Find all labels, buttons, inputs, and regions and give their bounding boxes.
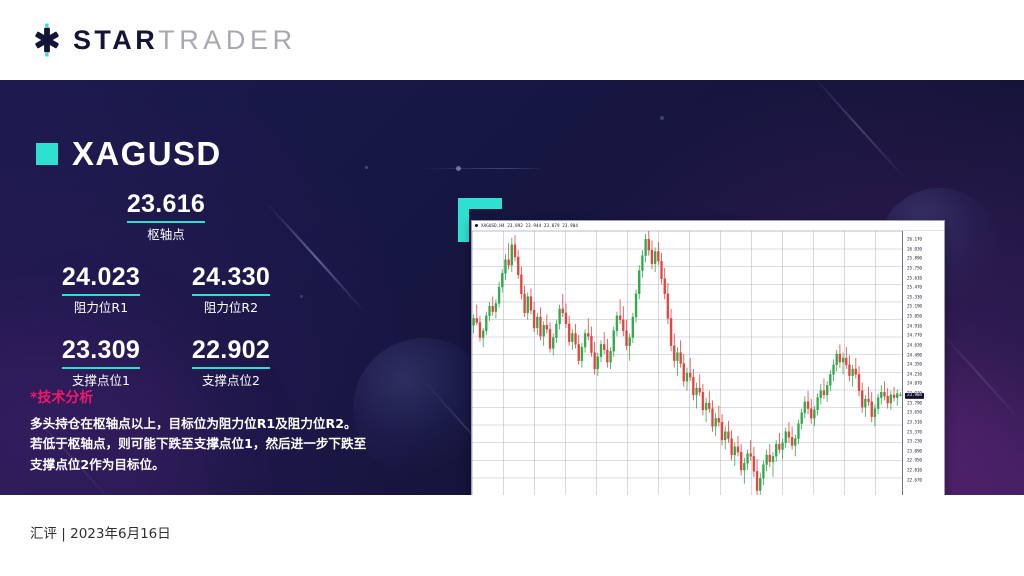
price-tick: 23.370	[907, 430, 922, 435]
pivot-row-pivot: 23.616 枢轴点	[36, 190, 296, 243]
price-tick: 24.210	[907, 372, 922, 377]
symbol-heading: XAGUSD	[36, 137, 222, 170]
price-tick: 23.790	[907, 401, 922, 406]
decor-dot-3	[660, 116, 664, 120]
brand-logo: STARTRADER	[30, 23, 297, 57]
pivot-value: 24.023	[62, 263, 140, 296]
price-tick: 24.770	[907, 334, 922, 339]
pivot-cell-r1: 24.023 阻力位R1	[36, 263, 166, 316]
pivot-cell-pivot: 23.616 枢轴点	[101, 190, 231, 243]
chart-plot-area[interactable]	[472, 231, 902, 495]
six-point-star-icon	[30, 23, 64, 57]
price-tick: 25.190	[907, 305, 922, 310]
candlestick-series	[472, 231, 902, 495]
price-tick: 22.670	[907, 478, 922, 483]
chart-symbol-dot-icon	[475, 224, 478, 227]
price-tick: 25.050	[907, 315, 922, 320]
slide-canvas: STARTRADER XAGUSD 23.616	[0, 0, 1024, 576]
pivot-label: 阻力位R2	[166, 300, 296, 316]
analysis-title-text: 技术分析	[37, 390, 93, 406]
chart-titlebar: XAGUSD,H4 23.892 23.944 23.879 23.904	[472, 221, 944, 231]
price-tick: 23.650	[907, 411, 922, 416]
price-tick: 24.070	[907, 382, 922, 387]
analysis-line: 若低于枢轴点，则可能下跌至支撑点位1，然后进一步下跌至	[30, 434, 410, 454]
analysis-title: *技术分析	[30, 390, 410, 407]
pivot-value: 22.902	[192, 336, 270, 369]
price-tick: 24.490	[907, 353, 922, 358]
page-title: XAGUSD	[72, 137, 222, 170]
price-tick: 23.090	[907, 449, 922, 454]
technical-analysis: *技术分析 多头持仓在枢轴点以上，目标位为阻力位R1及阻力位R2。 若低于枢轴点…	[30, 390, 410, 475]
pivot-value: 24.330	[192, 263, 270, 296]
pivot-label: 支撑点位1	[36, 373, 166, 389]
pivot-cell-s1: 23.309 支撑点位1	[36, 336, 166, 389]
pivot-row-support: 23.309 支撑点位1 22.902 支撑点位2	[36, 336, 296, 389]
footer-caption: 汇评 | 2023年6月16日	[30, 526, 171, 542]
price-tick: 24.630	[907, 343, 922, 348]
pivot-label: 支撑点位2	[166, 373, 296, 389]
price-tick: 23.510	[907, 420, 922, 425]
price-tick: 25.610	[907, 276, 922, 281]
page-header: STARTRADER	[0, 0, 1024, 80]
analysis-body: 多头持仓在枢轴点以上，目标位为阻力位R1及阻力位R2。 若低于枢轴点，则可能下跌…	[30, 414, 410, 475]
price-tick: 25.750	[907, 266, 922, 271]
pivot-levels: 23.616 枢轴点 24.023 阻力位R1 24.330 阻力位R2 23.…	[36, 190, 296, 389]
price-tick: 25.330	[907, 295, 922, 300]
price-tick: 25.470	[907, 286, 922, 291]
price-tick: 25.890	[907, 257, 922, 262]
price-tick: 26.170	[907, 237, 922, 242]
price-axis[interactable]: 26.17026.03025.89025.75025.61025.47025.3…	[902, 231, 944, 495]
brand-name-light: TRADER	[158, 25, 297, 55]
price-tick: 22.810	[907, 469, 922, 474]
decor-dot-2	[365, 166, 368, 169]
decor-hairline	[420, 168, 540, 169]
pivot-cell-r2: 24.330 阻力位R2	[166, 263, 296, 316]
pivot-label: 阻力位R1	[36, 300, 166, 316]
price-tick: 26.030	[907, 247, 922, 252]
chart-title: XAGUSD,H4 23.892 23.944 23.879 23.904	[481, 223, 578, 228]
brand-name-bold: STAR	[73, 25, 158, 55]
price-tick: 22.950	[907, 459, 922, 464]
current-price-label: 23.904	[905, 393, 924, 399]
pivot-value: 23.616	[127, 190, 205, 223]
brand-wordmark: STARTRADER	[73, 27, 297, 54]
analysis-line: 支撑点位2作为目标位。	[30, 455, 410, 475]
analysis-line: 多头持仓在枢轴点以上，目标位为阻力位R1及阻力位R2。	[30, 414, 410, 434]
pivot-row-resistance: 24.023 阻力位R1 24.330 阻力位R2	[36, 263, 296, 316]
price-tick: 24.350	[907, 363, 922, 368]
price-tick: 24.910	[907, 324, 922, 329]
decor-dot-4	[300, 295, 303, 298]
price-chart-window[interactable]: XAGUSD,H4 23.892 23.944 23.879 23.904 26…	[471, 220, 945, 495]
decor-dot-1	[456, 166, 461, 171]
pivot-label: 枢轴点	[101, 227, 231, 243]
decor-streak-3	[811, 80, 906, 179]
pivot-value: 23.309	[62, 336, 140, 369]
pivot-cell-s2: 22.902 支撑点位2	[166, 336, 296, 389]
main-panel: XAGUSD 23.616 枢轴点 24.023 阻力位R1 24.330 阻力…	[0, 80, 1024, 495]
square-marker-icon	[36, 143, 58, 165]
price-tick: 23.230	[907, 440, 922, 445]
